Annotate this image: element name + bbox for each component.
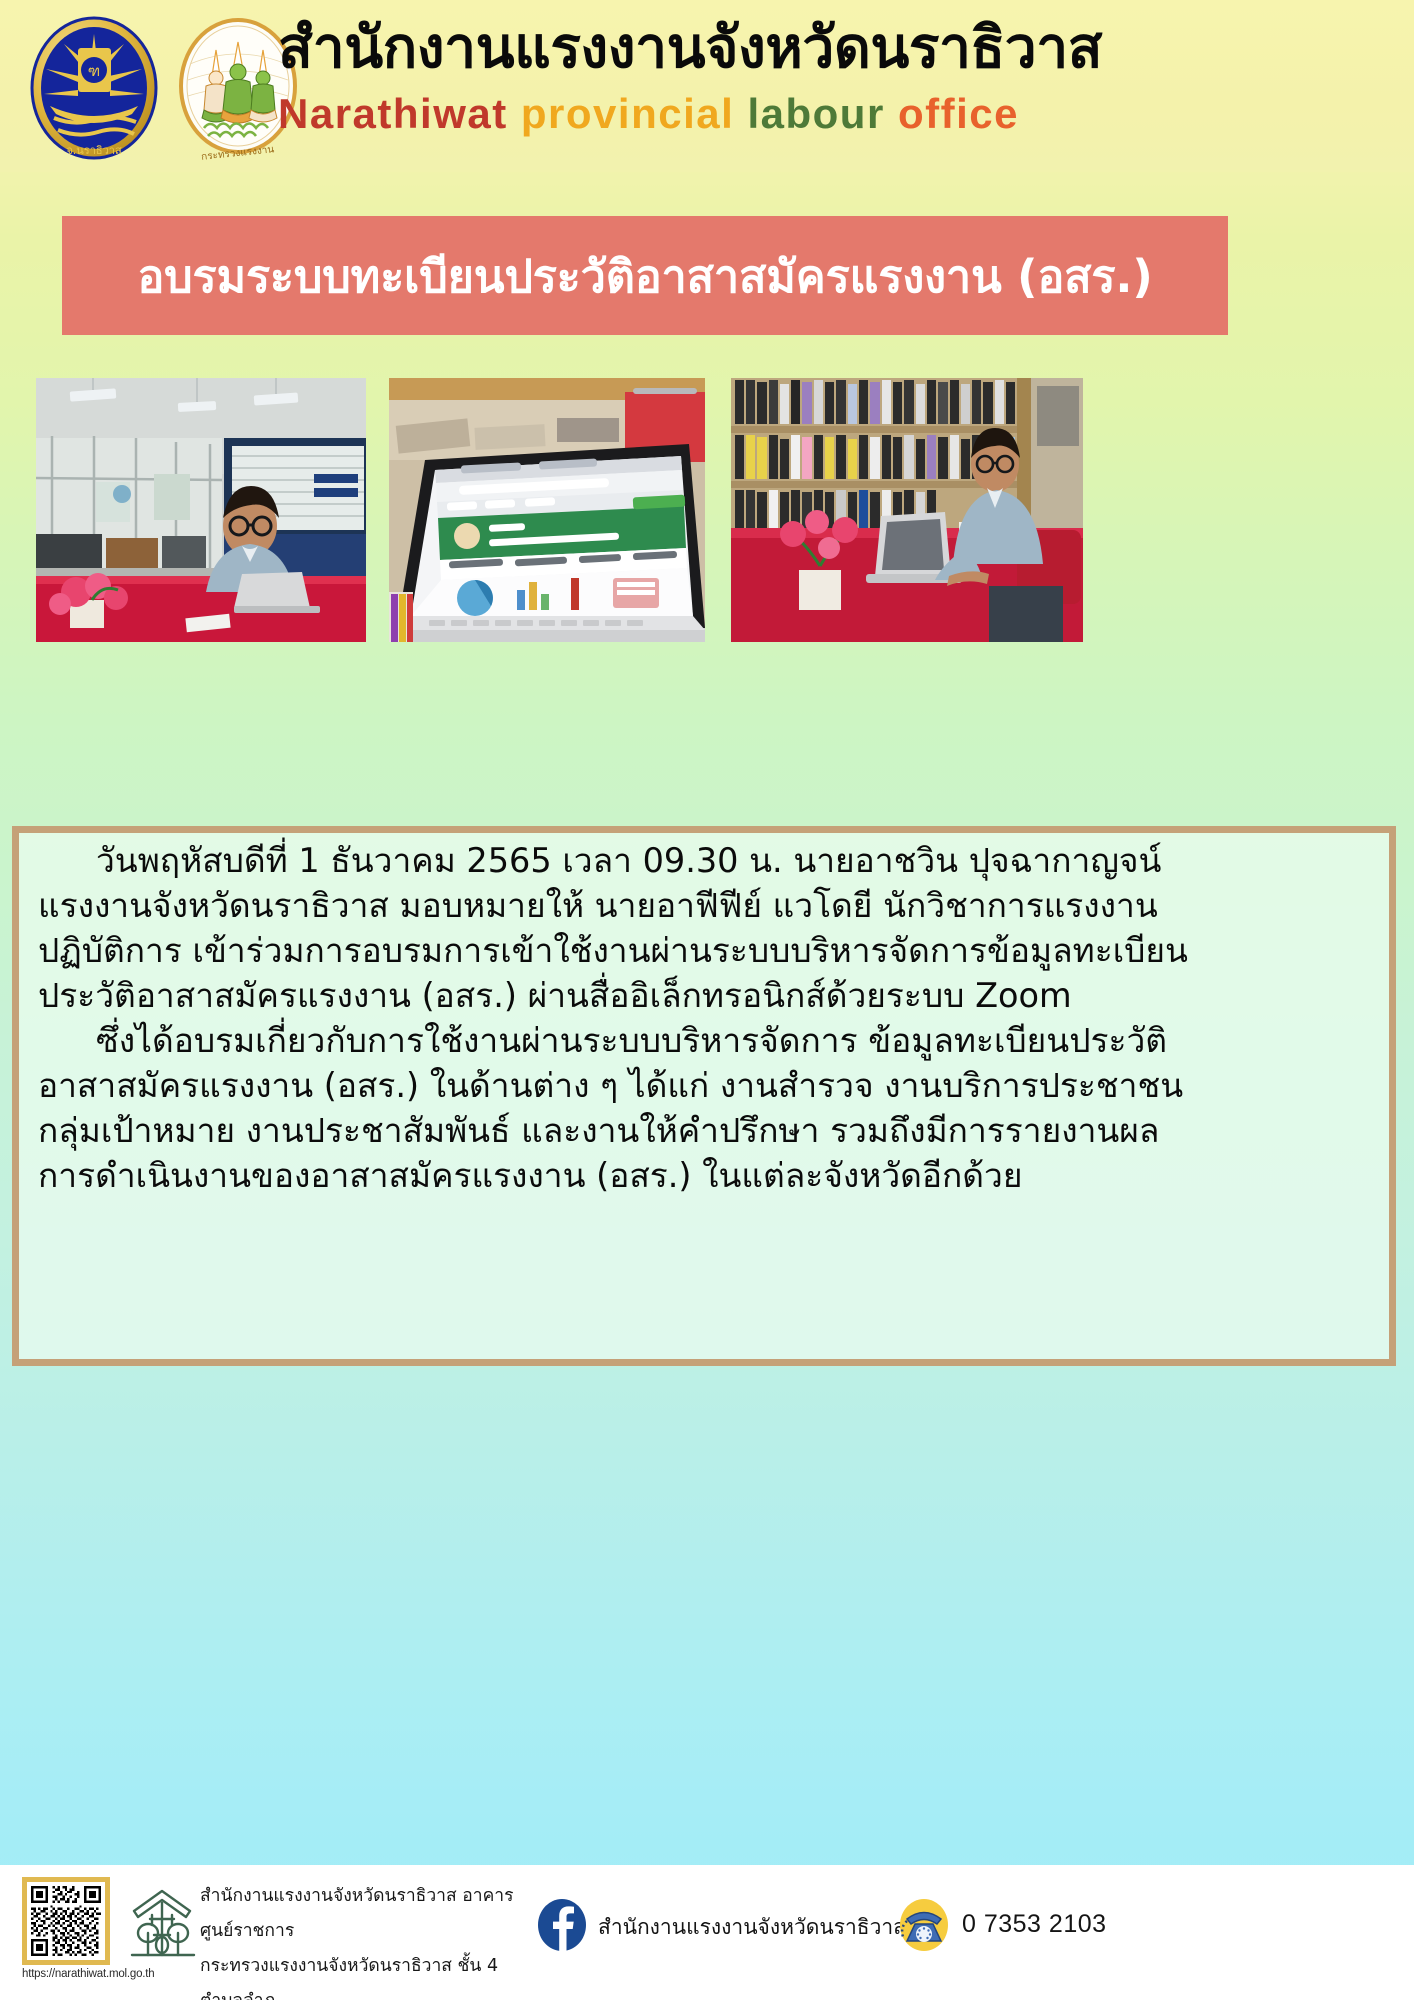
telephone-number[interactable]: 0 7353 2103 (962, 1910, 1107, 1939)
paragraph-1-line-2: แรงงานจังหวัดนราธิวาส มอบหมายให้ นายอาฟี… (38, 883, 1370, 928)
svg-text:จ.นราธิวาส: จ.นราธิวาส (66, 144, 122, 157)
poster-root: ฑ จ.นราธิวาส (0, 0, 1414, 2000)
paragraph-1-line-4: ประวัติอาสาสมัครแรงงาน (อสร.) ผ่านสื่ออิ… (38, 973, 1370, 1018)
address-line-2: กระทรวงแรงงานจังหวัดนราธิวาส ชั้น 4 ตำบล… (200, 1949, 530, 2000)
qr-code-icon[interactable] (22, 1877, 110, 1965)
telephone-icon (895, 1897, 953, 1953)
event-title-banner: อบรมระบบทะเบียนประวัติอาสาสมัครแรงงาน (อ… (62, 216, 1228, 335)
header-english-title: Narathiwat provincial labour office (278, 88, 1378, 140)
svg-text:ฑ: ฑ (88, 62, 100, 80)
paragraph-2-line-3: กลุ่มเป้าหมาย งานประชาสัมพันธ์ และงานให้… (38, 1108, 1370, 1153)
header-thai-title: สำนักงานแรงงานจังหวัดนราธิวาส (278, 12, 1378, 84)
office-building-icon (124, 1885, 200, 1965)
qr-code-block[interactable]: https://narathiwat.mol.go.th (22, 1877, 118, 1980)
body-text: วันพฤหัสบดีที่ 1 ธันวาคม 2565 เวลา 09.30… (12, 838, 1396, 1198)
photo-officer-at-laptop-in-office (36, 378, 366, 642)
photo-strip (0, 378, 1414, 642)
facebook-page-name[interactable]: สำนักงานแรงงานจังหวัดนราธิวาส (598, 1911, 906, 1944)
photo-laptop-screen-registration-system (389, 378, 705, 642)
photo-officer-with-laptop-bookshelf (731, 378, 1083, 642)
paragraph-2-line-2: อาสาสมัครแรงงาน (อสร.) ในด้านต่าง ๆ ได้แ… (38, 1063, 1370, 1108)
address-line-1: สำนักงานแรงงานจังหวัดนราธิวาส อาคารศูนย์… (200, 1879, 530, 1949)
paragraph-1-line-1: วันพฤหัสบดีที่ 1 ธันวาคม 2565 เวลา 09.30… (38, 838, 1370, 883)
office-address: สำนักงานแรงงานจังหวัดนราธิวาส อาคารศูนย์… (200, 1879, 530, 2000)
facebook-icon[interactable] (536, 1899, 588, 1951)
page-header: ฑ จ.นราธิวาส (0, 0, 1414, 172)
header-en-word-2: provincial (521, 90, 734, 137)
page-footer: https://narathiwat.mol.go.th (0, 1865, 1414, 2000)
header-titles: สำนักงานแรงงานจังหวัดนราธิวาส Narathiwat… (278, 12, 1378, 140)
paragraph-2-line-1: ซึ่งได้อบรมเกี่ยวกับการใช้งานผ่านระบบบริ… (38, 1018, 1370, 1063)
header-en-word-3: labour (747, 90, 884, 137)
event-title-text: อบรมระบบทะเบียนประวัติอาสาสมัครแรงงาน (อ… (137, 240, 1152, 312)
header-en-word-1: Narathiwat (278, 90, 508, 137)
website-url[interactable]: https://narathiwat.mol.go.th (22, 1968, 118, 1980)
narathiwat-province-seal-icon: ฑ จ.นราธิวาส (24, 14, 164, 162)
paragraph-2-line-4: การดำเนินงานของอาสาสมัครแรงงาน (อสร.) ใน… (38, 1153, 1370, 1198)
header-en-word-4: office (898, 90, 1019, 137)
paragraph-1-line-3: ปฏิบัติการ เข้าร่วมการอบรมการเข้าใช้งานผ… (38, 928, 1370, 973)
